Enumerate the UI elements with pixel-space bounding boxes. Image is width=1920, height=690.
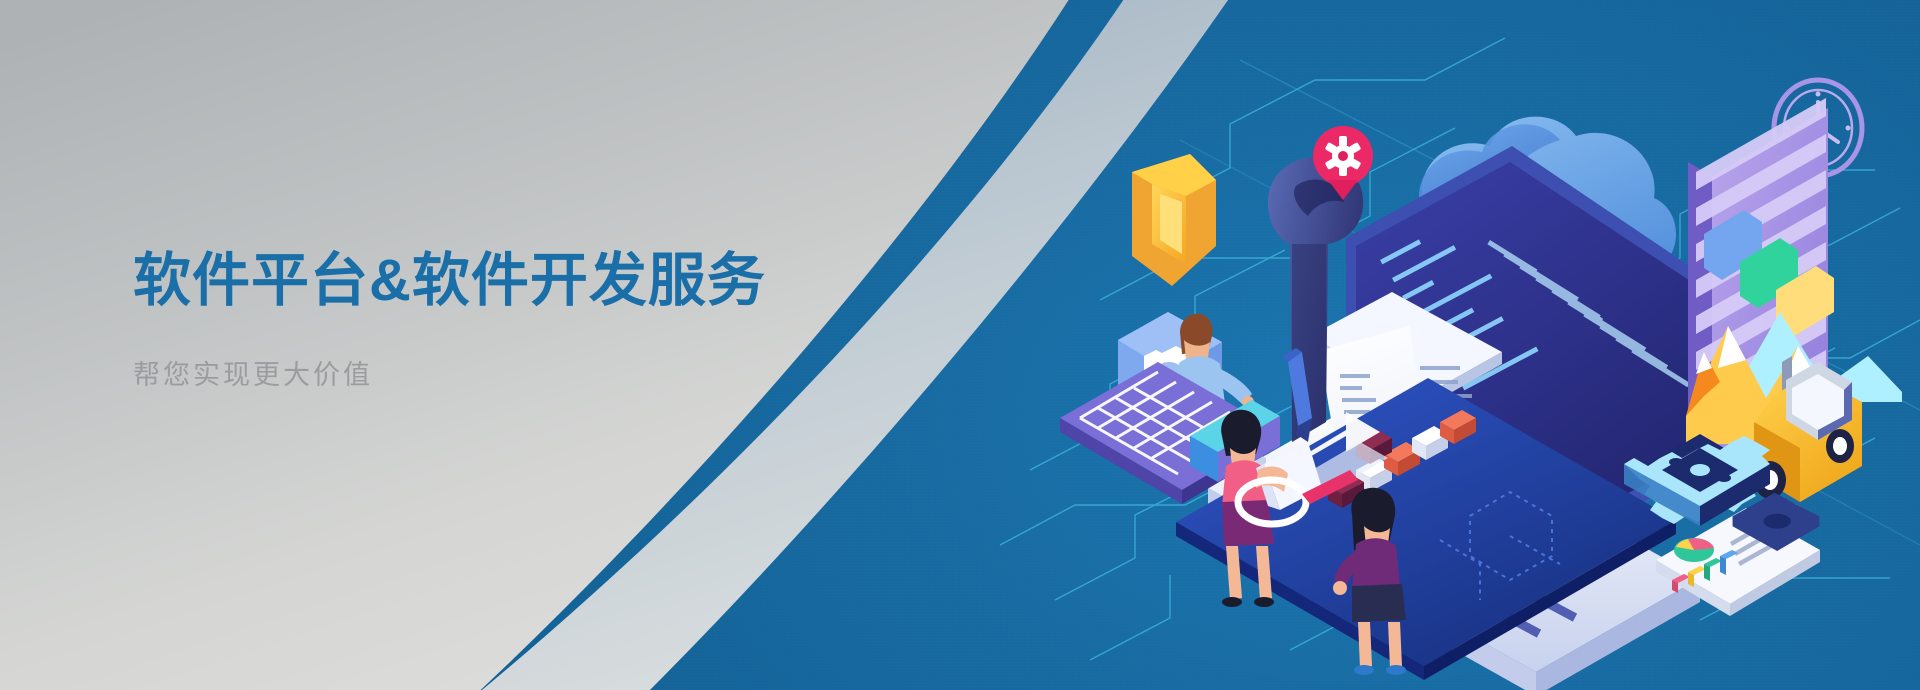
page-title: 软件平台&软件开发服务 <box>133 250 913 313</box>
shield-icon <box>1132 154 1216 286</box>
page-subtitle: 帮您实现更大价值 <box>133 353 913 392</box>
hero-copy-block: 软件平台&软件开发服务 帮您实现更大价值 <box>133 250 913 392</box>
hero-banner: 软件平台&软件开发服务 帮您实现更大价值 <box>0 0 1920 690</box>
pie-chart-icon <box>1674 538 1714 562</box>
hero-illustration: NEWS <box>1040 50 1920 690</box>
